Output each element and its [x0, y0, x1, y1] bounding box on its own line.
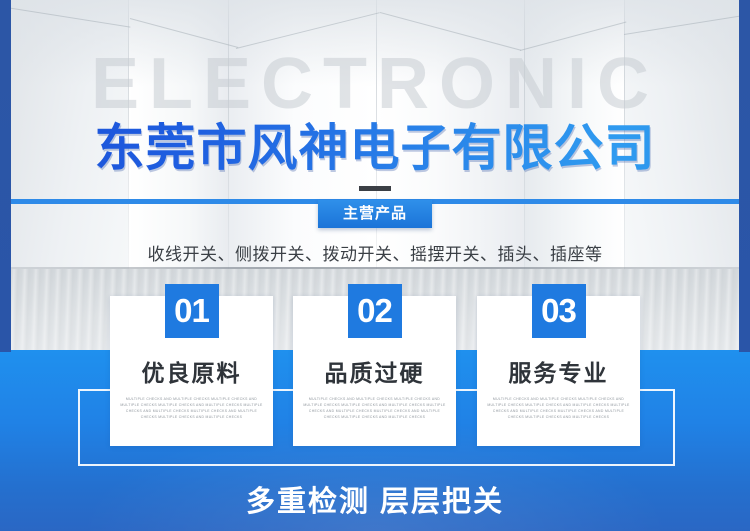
feature-card: 02 品质过硬 MULTIPLE CHECKS AND MULTIPLE CHE… — [293, 296, 456, 446]
card-number-badge: 02 — [348, 284, 402, 338]
card-subtext: MULTIPLE CHECKS AND MULTIPLE CHECKS MULT… — [485, 396, 632, 420]
feature-card: 01 优良原料 MULTIPLE CHECKS AND MULTIPLE CHE… — [110, 296, 273, 446]
feature-cards-container: 01 优良原料 MULTIPLE CHECKS AND MULTIPLE CHE… — [0, 296, 750, 446]
promo-banner: ELECTRONIC 东莞市风神电子有限公司 主营产品 收线开关、侧拨开关、拨动… — [0, 0, 750, 531]
card-heading: 服务专业 — [477, 354, 640, 388]
card-heading: 品质过硬 — [293, 354, 456, 388]
card-subtext: MULTIPLE CHECKS AND MULTIPLE CHECKS MULT… — [301, 396, 448, 420]
card-heading: 优良原料 — [110, 354, 273, 388]
electronic-watermark-text: ELECTRONIC — [0, 48, 750, 120]
feature-card: 03 服务专业 MULTIPLE CHECKS AND MULTIPLE CHE… — [477, 296, 640, 446]
main-products-badge: 主营产品 — [318, 200, 432, 228]
title-divider-dash — [359, 186, 391, 191]
bottom-slogan: 多重检测 层层把关 — [0, 478, 750, 520]
product-list-text: 收线开关、侧拨开关、拨动开关、摇摆开关、插头、插座等 — [0, 240, 750, 265]
card-number-badge: 01 — [165, 284, 219, 338]
card-number-badge: 03 — [532, 284, 586, 338]
card-subtext: MULTIPLE CHECKS AND MULTIPLE CHECKS MULT… — [118, 396, 265, 420]
company-title: 东莞市风神电子有限公司 — [0, 119, 750, 177]
